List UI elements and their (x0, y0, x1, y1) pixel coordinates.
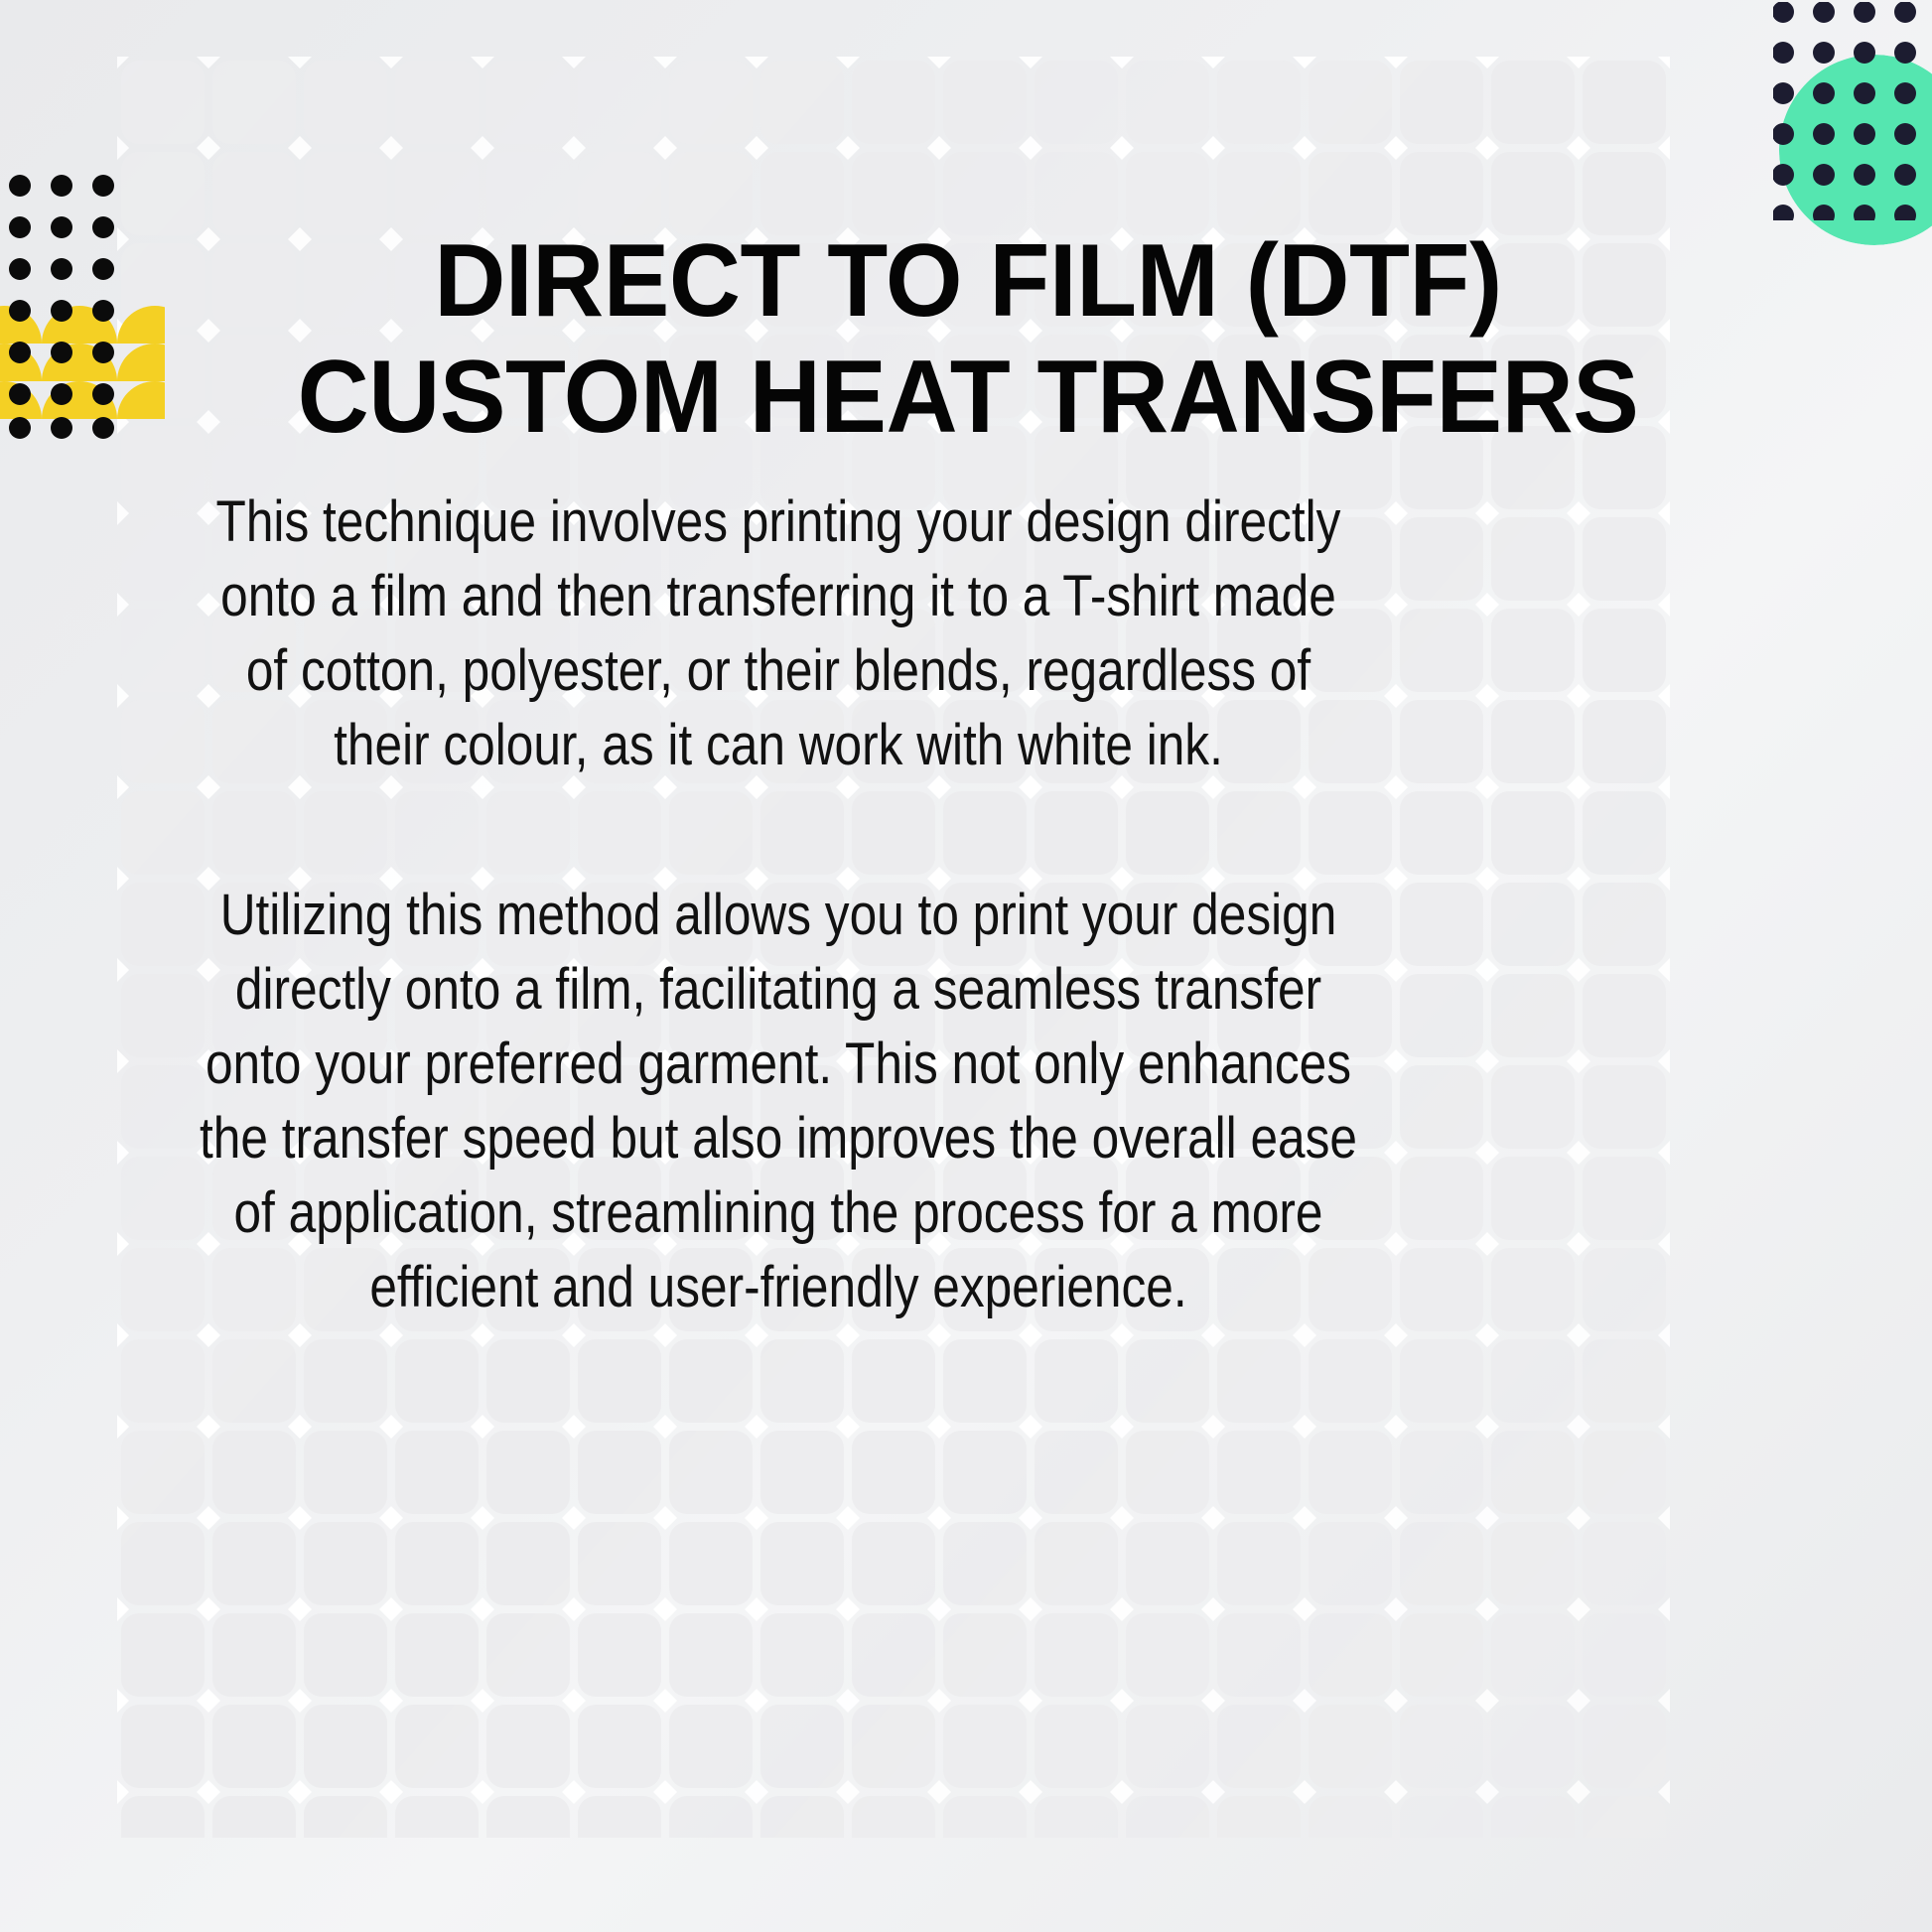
page-title: DIRECT TO FILM (DTF) CUSTOM HEAT TRANSFE… (210, 223, 1725, 456)
body-copy: This technique involves printing your de… (97, 484, 1459, 1324)
paragraph-spacer (97, 782, 1459, 878)
poster-canvas: DIRECT TO FILM (DTF) CUSTOM HEAT TRANSFE… (0, 0, 1932, 1932)
poster-content: DIRECT TO FILM (DTF) CUSTOM HEAT TRANSFE… (0, 0, 1932, 1932)
paragraph-two: Utilizing this method allows you to prin… (196, 878, 1360, 1324)
paragraph-one: This technique involves printing your de… (196, 484, 1360, 782)
